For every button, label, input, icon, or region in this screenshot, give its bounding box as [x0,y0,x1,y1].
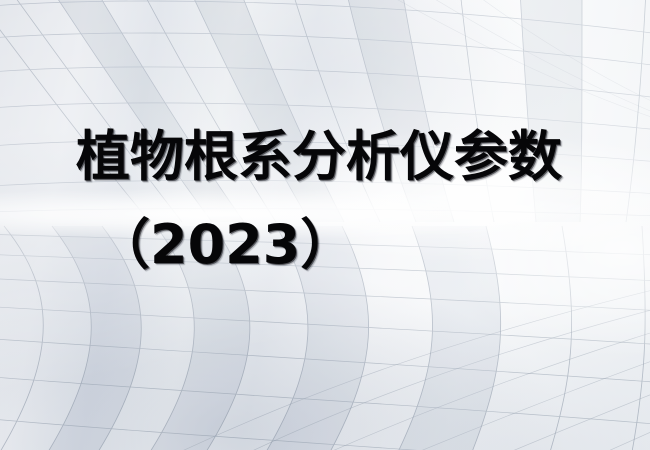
title-banner: 植物根系分析仪参数 （2023） [0,0,650,450]
page-title: 植物根系分析仪参数 [76,126,562,188]
page-title-year: （2023） [96,214,354,276]
banner-text-block: 植物根系分析仪参数 （2023） [0,0,650,450]
